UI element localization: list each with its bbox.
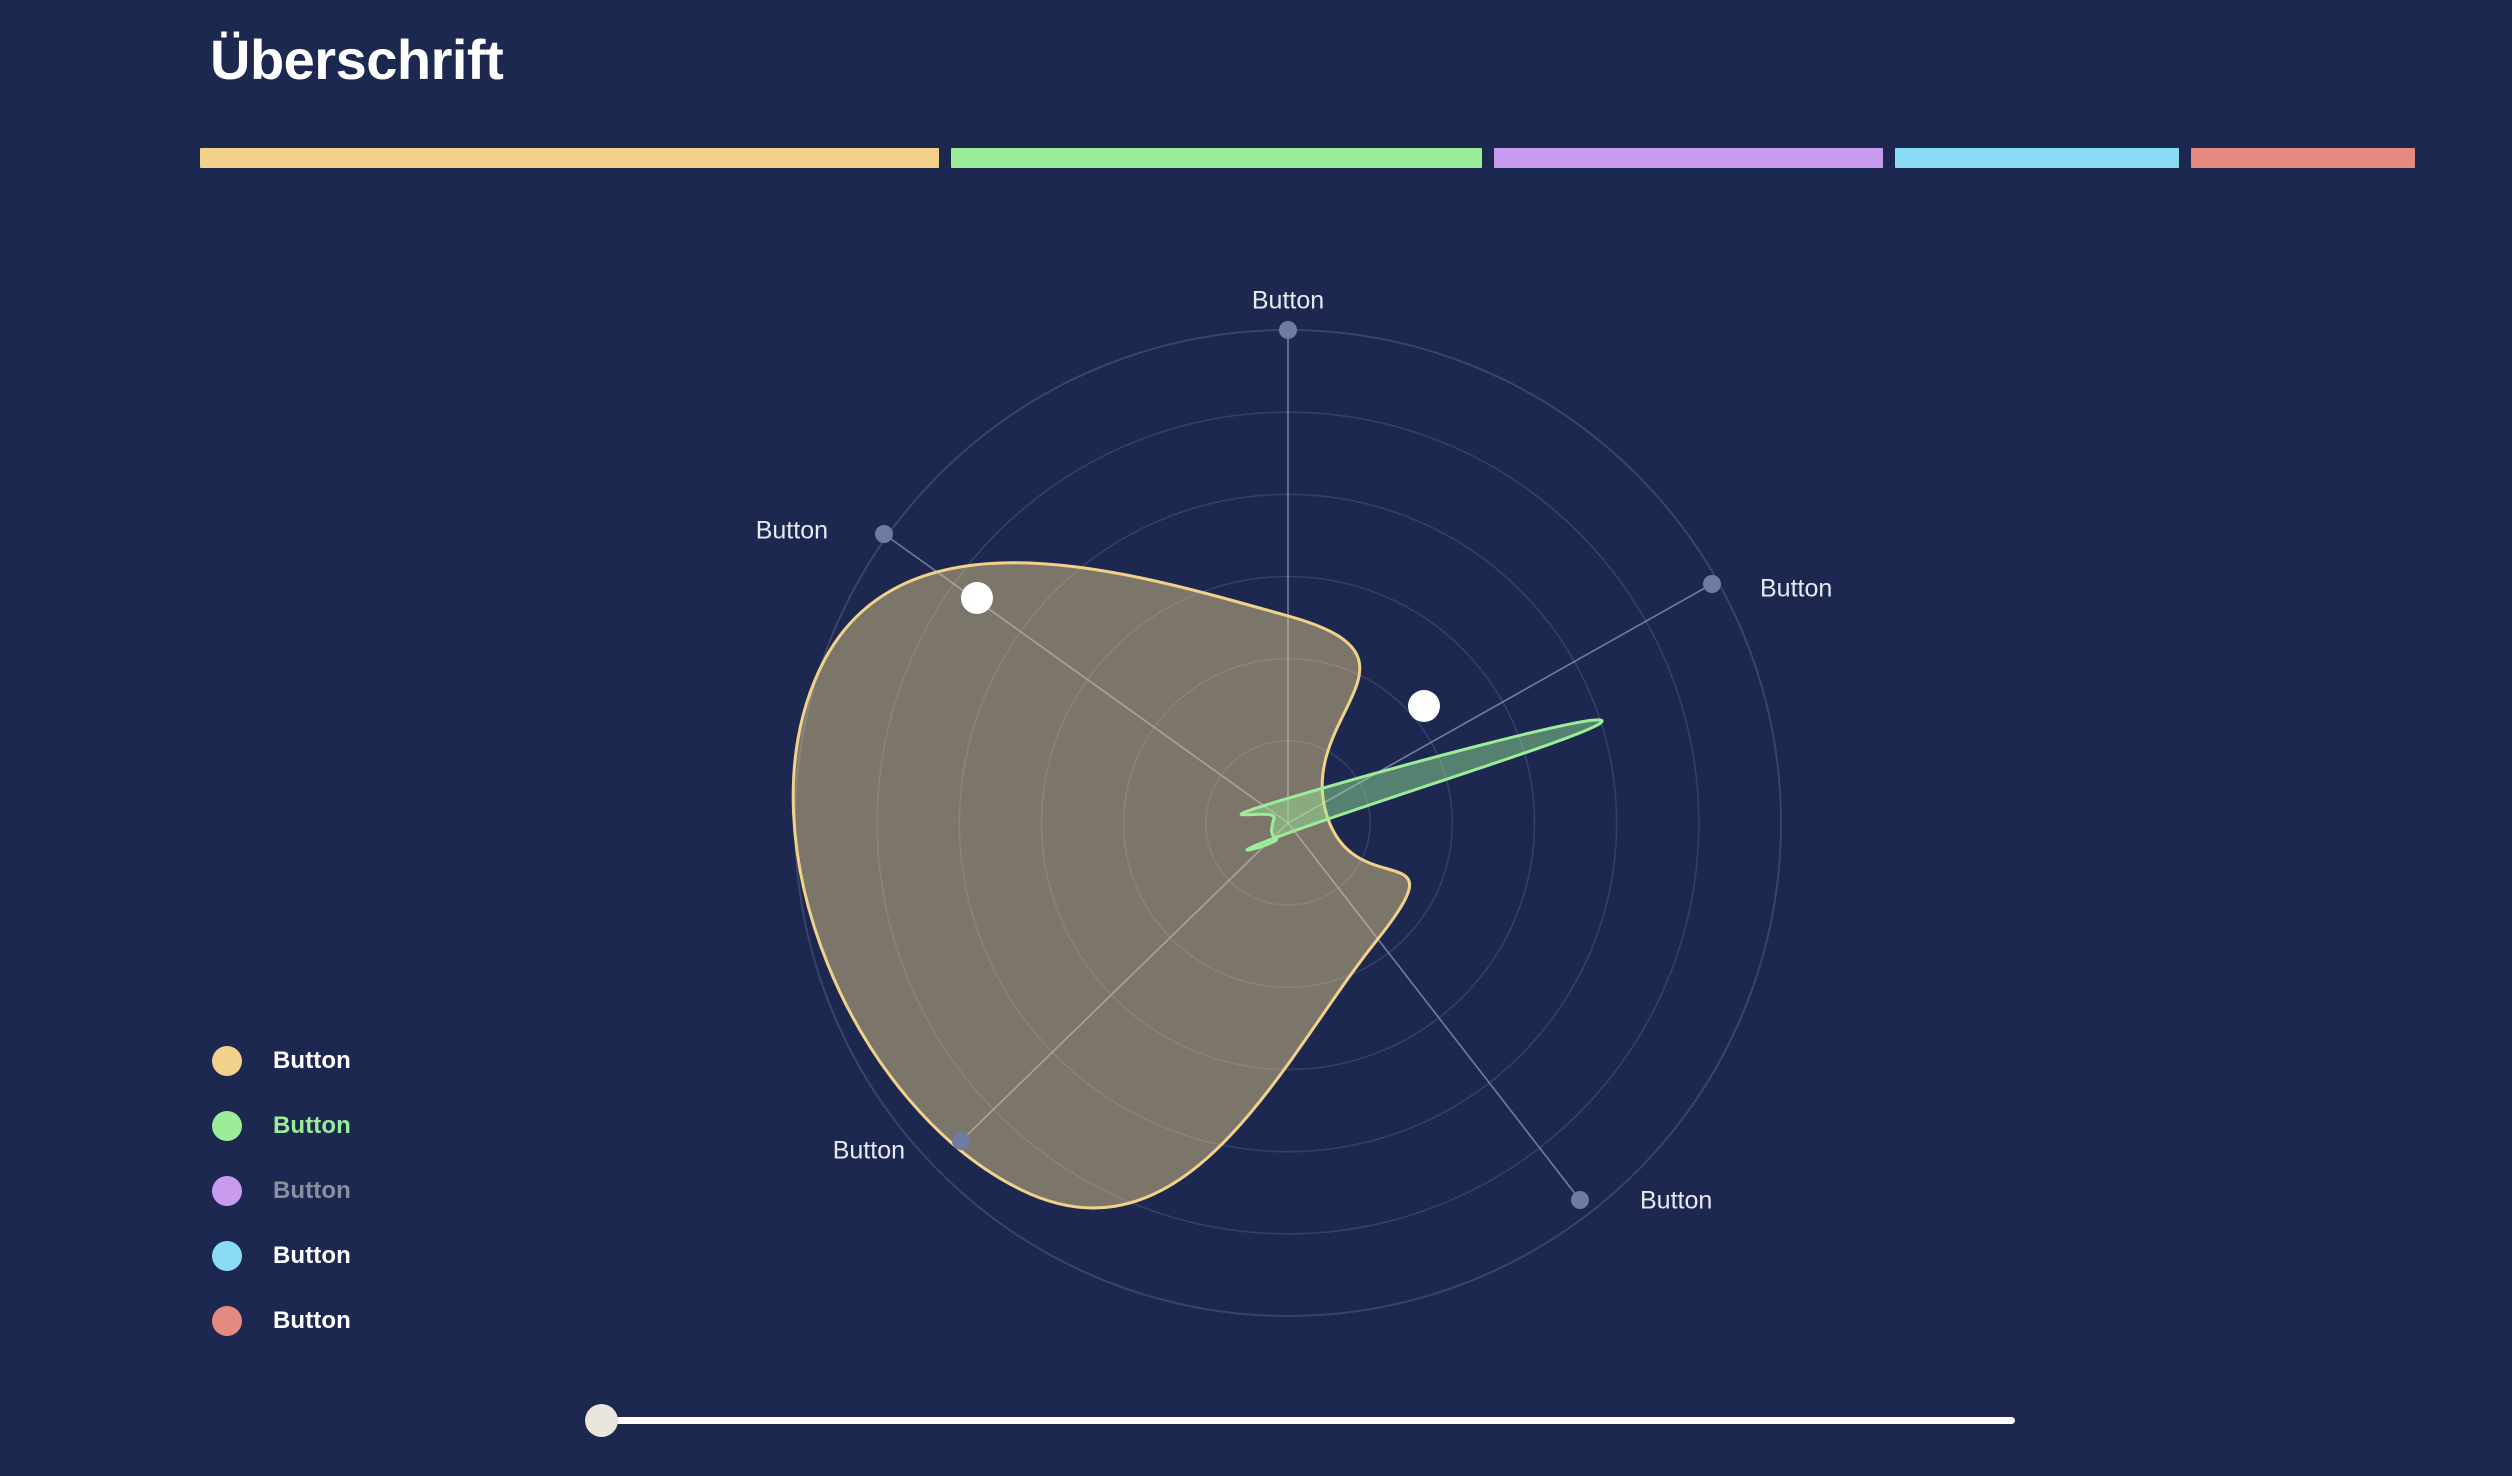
axis-label-5[interactable]: Button [756, 517, 828, 545]
grid-ring-4 [959, 494, 1616, 1151]
legend-item-1[interactable]: Button [212, 1028, 552, 1093]
radar-series-areas [793, 563, 1602, 1208]
legend-item-label: Button [273, 1242, 351, 1270]
grid-ring-2 [1124, 659, 1453, 988]
legend-item-label: Button [273, 1112, 351, 1140]
radar-axis-endpoint-dots [875, 321, 1721, 1209]
radar-grid-rings [795, 330, 1781, 1316]
legend-swatch-icon [212, 1046, 242, 1076]
axis-spoke-4 [961, 823, 1288, 1141]
slider-track[interactable] [599, 1417, 2015, 1424]
series-1-handle[interactable] [961, 582, 993, 614]
radar-area-series-1 [793, 563, 1409, 1208]
slider-thumb[interactable] [585, 1404, 618, 1437]
radar-axis-spokes [884, 330, 1712, 1200]
legend-item-label: Button [273, 1177, 351, 1205]
axis-spoke-5 [884, 534, 1288, 823]
axis-label-2[interactable]: Button [1760, 575, 1832, 603]
segment-bar-4[interactable] [1895, 148, 2179, 168]
legend-item-label: Button [273, 1307, 351, 1335]
grid-ring-3 [1042, 577, 1535, 1070]
legend-swatch-icon [212, 1111, 242, 1141]
legend-item-5[interactable]: Button [212, 1288, 552, 1353]
grid-ring-1 [1206, 741, 1370, 905]
legend-swatch-icon [212, 1241, 242, 1271]
axis-label-4[interactable]: Button [833, 1137, 905, 1165]
grid-ring-5 [877, 412, 1699, 1234]
grid-ring-6 [795, 330, 1781, 1316]
axis-endpoint-dot-4[interactable] [952, 1132, 970, 1150]
axis-label-1[interactable]: Button [1252, 287, 1324, 315]
segment-bar-1[interactable] [200, 148, 939, 168]
axis-spoke-3 [1288, 823, 1580, 1200]
segment-bar [200, 148, 2415, 168]
axis-endpoint-dot-2[interactable] [1703, 575, 1721, 593]
axis-endpoint-dot-1[interactable] [1279, 321, 1297, 339]
legend-swatch-icon [212, 1176, 242, 1206]
legend: ButtonButtonButtonButtonButton [212, 1028, 552, 1353]
radar-series-markers[interactable] [961, 582, 1440, 722]
radar-axis-labels: ButtonButtonButtonButtonButton [756, 287, 1833, 1215]
axis-label-3[interactable]: Button [1640, 1187, 1712, 1215]
axis-endpoint-dot-5[interactable] [875, 525, 893, 543]
radar-area-series-2 [1241, 720, 1602, 850]
series-2-handle[interactable] [1408, 690, 1440, 722]
app-root: Überschrift ButtonButtonButtonButtonButt… [0, 0, 2512, 1476]
segment-bar-3[interactable] [1494, 148, 1883, 168]
axis-endpoint-dot-3[interactable] [1571, 1191, 1589, 1209]
legend-item-2[interactable]: Button [212, 1093, 552, 1158]
page-title: Überschrift [210, 26, 503, 93]
value-slider[interactable] [585, 1404, 2015, 1440]
segment-bar-5[interactable] [2191, 148, 2415, 168]
legend-swatch-icon [212, 1306, 242, 1336]
legend-item-label: Button [273, 1047, 351, 1075]
legend-item-3[interactable]: Button [212, 1158, 552, 1223]
axis-spoke-2 [1288, 584, 1712, 823]
segment-bar-2[interactable] [951, 148, 1482, 168]
legend-item-4[interactable]: Button [212, 1223, 552, 1288]
